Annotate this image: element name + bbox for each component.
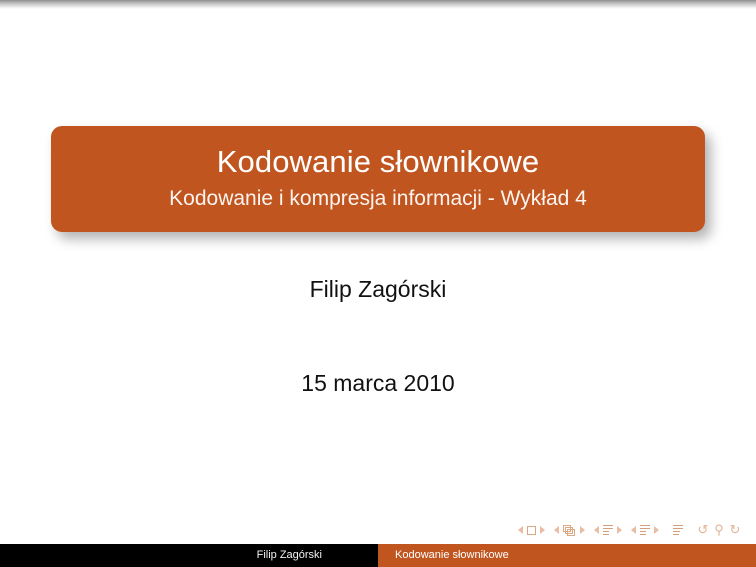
title-block: Kodowanie słownikowe Kodowanie i kompres…: [51, 126, 705, 232]
footer-author-section: Filip Zagórski: [0, 544, 378, 567]
square-outline-icon[interactable]: [527, 526, 536, 535]
footer-title-section: Kodowanie słownikowe: [378, 544, 756, 567]
stacked-frames-icon[interactable]: [563, 525, 576, 536]
presentation-lines-icon[interactable]: [673, 525, 683, 536]
nav-group-frame[interactable]: [554, 525, 585, 536]
next-frame-icon[interactable]: [580, 526, 585, 534]
next-slide-icon[interactable]: [540, 526, 545, 534]
presentation-date: 15 marca 2010: [0, 368, 756, 398]
section-lines-icon[interactable]: [640, 525, 650, 536]
nav-group-section[interactable]: [631, 525, 659, 536]
page-subtitle: Kodowanie i kompresja informacji - Wykła…: [169, 184, 587, 214]
search-icon[interactable]: ⚲: [713, 524, 725, 536]
page-title: Kodowanie słownikowe: [217, 142, 540, 182]
nav-group-presentation[interactable]: [673, 525, 683, 536]
footer-author-label: Filip Zagórski: [257, 549, 322, 562]
prev-section-icon[interactable]: [631, 526, 636, 534]
slide-footer: Filip Zagórski Kodowanie słownikowe: [0, 544, 756, 567]
nav-group-slide[interactable]: [518, 526, 545, 535]
back-arrow-icon[interactable]: ↺: [697, 524, 709, 536]
footer-title-label: Kodowanie słownikowe: [395, 549, 509, 562]
beamer-navigation-bar[interactable]: ↺ ⚲ ↻: [518, 521, 750, 539]
title-block-body: Kodowanie słownikowe Kodowanie i kompres…: [51, 126, 705, 232]
subsection-lines-icon[interactable]: [603, 525, 613, 536]
prev-frame-icon[interactable]: [554, 526, 559, 534]
nav-group-subsection[interactable]: [594, 525, 622, 536]
forward-arrow-icon[interactable]: ↻: [729, 524, 741, 536]
prev-slide-icon[interactable]: [518, 526, 523, 534]
author-name: Filip Zagórski: [0, 274, 756, 304]
presentation-slide: Kodowanie słownikowe Kodowanie i kompres…: [0, 0, 756, 567]
prev-subsection-icon[interactable]: [594, 526, 599, 534]
next-section-icon[interactable]: [654, 526, 659, 534]
page-top-shadow: [0, 0, 756, 9]
next-subsection-icon[interactable]: [617, 526, 622, 534]
nav-group-controls[interactable]: ↺ ⚲ ↻: [697, 524, 741, 536]
